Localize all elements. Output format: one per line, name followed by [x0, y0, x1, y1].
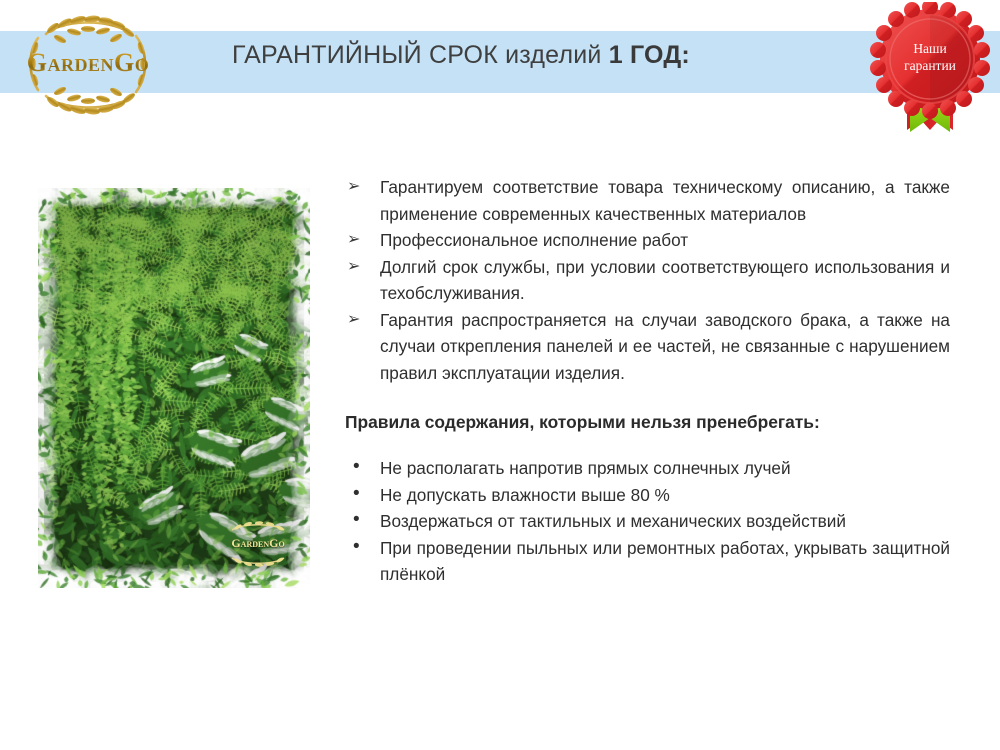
image-watermark-text: GardenGo	[212, 536, 304, 551]
arrow-bullet-icon: ➢	[347, 174, 360, 201]
list-item: ➢Гарантия распространяется на случаи зав…	[345, 307, 950, 387]
dot-bullet-icon: •	[353, 534, 360, 561]
image-watermark: GardenGo	[212, 518, 304, 570]
arrow-bullet-icon: ➢	[347, 254, 360, 281]
arrow-bullet-icon: ➢	[347, 307, 360, 334]
rules-heading: Правила содержания, которыми нельзя прен…	[345, 412, 950, 433]
page-title-main: ГАРАНТИЙНЫЙ СРОК изделий	[232, 41, 609, 69]
brand-logo-text: GardenGo	[8, 48, 168, 78]
guarantee-badge: Наши гарантии	[866, 2, 994, 136]
guarantee-list: ➢Гарантируем соответствие товара техниче…	[345, 174, 950, 386]
dot-bullet-icon: •	[353, 481, 360, 508]
content-column: ➢Гарантируем соответствие товара техниче…	[345, 174, 950, 588]
list-item: •Не располагать напротив прямых солнечны…	[345, 455, 950, 482]
dot-bullet-icon: •	[353, 454, 360, 481]
list-item-text: При проведении пыльных или ремонтных раб…	[380, 538, 950, 585]
list-item-text: Не допускать влажности выше 80 %	[380, 485, 670, 505]
list-item-text: Профессиональное исполнение работ	[380, 230, 688, 250]
list-item: •Не допускать влажности выше 80 %	[345, 482, 950, 509]
dot-bullet-icon: •	[353, 507, 360, 534]
list-item-text: Гарантия распространяется на случаи заво…	[380, 310, 950, 383]
list-item: ➢Профессиональное исполнение работ	[345, 227, 950, 254]
brand-logo[interactable]: GardenGo	[8, 8, 168, 120]
list-item-text: Гарантируем соответствие товара техничес…	[380, 177, 950, 224]
list-item-text: Воздержаться от тактильных и механически…	[380, 511, 846, 531]
page-header: ГАРАНТИЙНЫЙ СРОК изделий 1 ГОД:	[0, 0, 1000, 140]
list-item: •При проведении пыльных или ремонтных ра…	[345, 535, 950, 588]
arrow-bullet-icon: ➢	[347, 227, 360, 254]
page-title: ГАРАНТИЙНЫЙ СРОК изделий 1 ГОД:	[232, 41, 872, 70]
list-item: ➢Долгий срок службы, при условии соответ…	[345, 254, 950, 307]
rules-list: •Не располагать напротив прямых солнечны…	[345, 455, 950, 588]
list-item: ➢Гарантируем соответствие товара техниче…	[345, 174, 950, 227]
page-title-emphasis: 1 ГОД:	[609, 41, 690, 69]
product-image-green-wall: GardenGo	[38, 188, 310, 588]
list-item-text: Не располагать напротив прямых солнечных…	[380, 458, 791, 478]
award-rosette-icon	[866, 2, 994, 136]
list-item: •Воздержаться от тактильных и механическ…	[345, 508, 950, 535]
list-item-text: Долгий срок службы, при условии соответс…	[380, 257, 950, 304]
